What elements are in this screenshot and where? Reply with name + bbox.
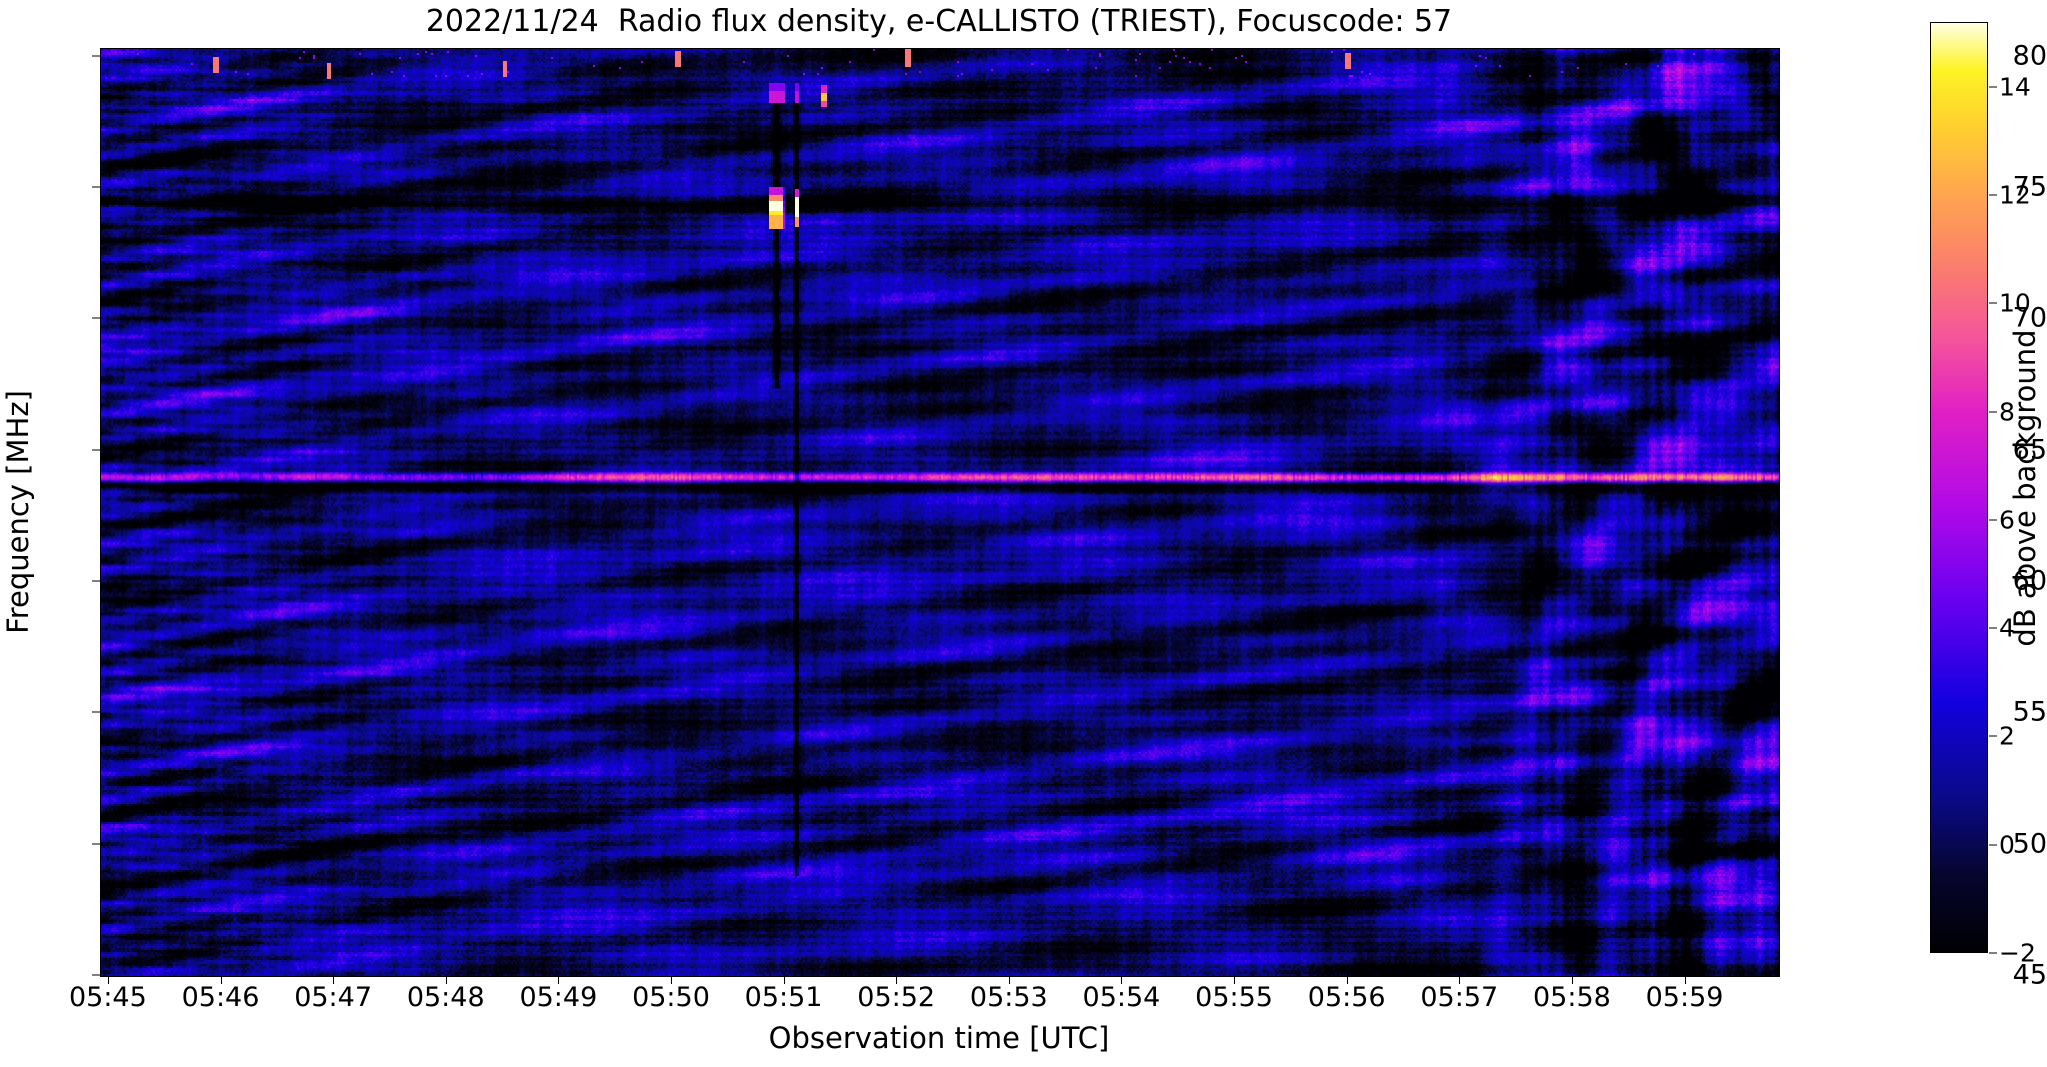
x-tick-label: 05:57 <box>1420 982 1498 1013</box>
x-tick-label: 05:50 <box>632 982 710 1013</box>
y-tick-mark <box>92 975 100 976</box>
x-tick-label: 05:58 <box>1533 982 1611 1013</box>
x-tick-label: 05:56 <box>1308 982 1386 1013</box>
x-axis-label: Observation time [UTC] <box>100 1021 1778 1055</box>
x-tick-label: 05:51 <box>745 982 823 1013</box>
x-tick-label: 05:48 <box>407 982 485 1013</box>
colorbar-tick-mark <box>1989 411 1997 412</box>
y-tick-mark <box>92 449 100 450</box>
x-tick-label: 05:53 <box>970 982 1048 1013</box>
colorbar-tick-mark <box>1989 844 1997 845</box>
x-tick-label: 05:59 <box>1646 982 1724 1013</box>
colorbar-gradient <box>1930 22 1988 953</box>
y-tick-mark <box>92 581 100 582</box>
colorbar-tick-mark <box>1989 195 1997 196</box>
colorbar-label: dB above background <box>2008 329 2042 646</box>
x-tick-label: 05:52 <box>857 982 935 1013</box>
y-tick-mark <box>92 843 100 844</box>
colorbar-tick-mark <box>1989 519 1997 520</box>
x-tick-label: 05:45 <box>69 982 147 1013</box>
x-tick-label: 05:47 <box>294 982 372 1013</box>
colorbar-label-container: dB above background <box>2004 22 2046 953</box>
x-tick-label: 05:54 <box>1083 982 1161 1013</box>
y-tick-mark <box>92 712 100 713</box>
colorbar-tick-mark <box>1989 303 1997 304</box>
page-title: 2022/11/24 Radio flux density, e-CALLIST… <box>100 4 1778 39</box>
colorbar-tick-mark <box>1989 86 1997 87</box>
y-tick-mark <box>92 55 100 56</box>
y-axis-label: Frequency [MHz] <box>1 390 35 634</box>
spectrogram-figure: 2022/11/24 Radio flux density, e-CALLIST… <box>0 0 2047 1067</box>
y-tick-mark <box>92 187 100 188</box>
x-tick-label: 05:49 <box>519 982 597 1013</box>
spectrogram-image <box>101 49 1779 976</box>
x-tick-label: 05:46 <box>182 982 260 1013</box>
colorbar-tick-mark <box>1989 953 1997 954</box>
colorbar-tick-mark <box>1989 736 1997 737</box>
plot-area[interactable] <box>100 48 1780 977</box>
colorbar-tick-mark <box>1989 628 1997 629</box>
y-tick-mark <box>92 318 100 319</box>
x-tick-label: 05:55 <box>1195 982 1273 1013</box>
y-axis-label-container: Frequency [MHz] <box>0 48 38 975</box>
colorbar-container[interactable] <box>1930 22 1988 953</box>
